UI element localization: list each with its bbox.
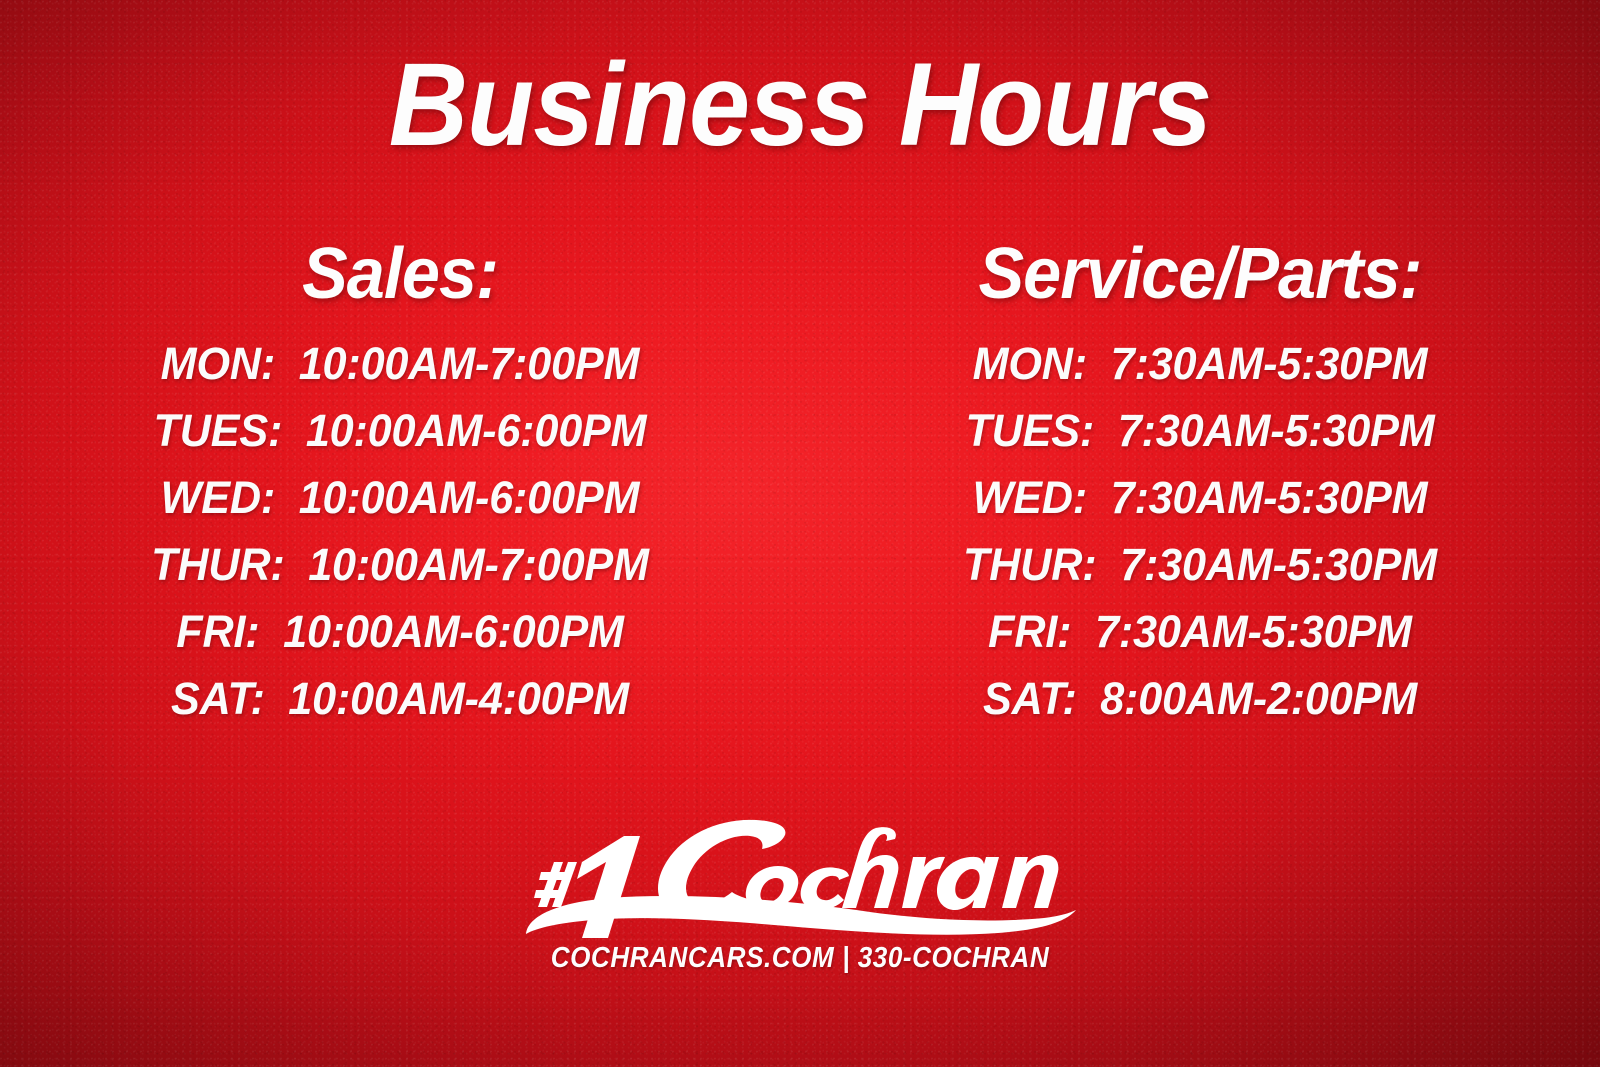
day-label: TUES:: [965, 405, 1105, 456]
brand-logo: COCHRANCARS.COM | 330-COCHRAN: [520, 806, 1080, 975]
day-label: MON:: [161, 338, 287, 389]
hours-row: SAT: 8:00AM-2:00PM: [816, 665, 1584, 732]
day-label: SAT:: [983, 673, 1088, 724]
hours-row: THUR: 7:30AM-5:30PM: [816, 531, 1584, 598]
hours-value: 7:30AM-5:30PM: [1118, 405, 1435, 456]
hours-value: 10:00AM-6:00PM: [283, 606, 624, 657]
sales-hours-column: Sales: MON: 10:00AM-7:00PM TUES: 10:00AM…: [0, 236, 800, 732]
hours-row: WED: 7:30AM-5:30PM: [816, 464, 1584, 531]
footer-contact-info: COCHRANCARS.COM | 330-COCHRAN: [548, 942, 1052, 975]
hours-value: 10:00AM-6:00PM: [306, 405, 647, 456]
hours-value: 7:30AM-5:30PM: [1120, 539, 1437, 590]
hours-row: THUR: 10:00AM-7:00PM: [16, 531, 784, 598]
cochran-logo-svg: [520, 806, 1080, 938]
hours-row: TUES: 10:00AM-6:00PM: [16, 397, 784, 464]
sales-column-heading: Sales:: [20, 236, 780, 312]
page-title: Business Hours: [56, 46, 1544, 164]
hours-columns: Sales: MON: 10:00AM-7:00PM TUES: 10:00AM…: [0, 236, 1600, 732]
hours-value: 10:00AM-6:00PM: [299, 472, 640, 523]
hours-row: FRI: 10:00AM-6:00PM: [16, 598, 784, 665]
day-label: FRI:: [988, 606, 1083, 657]
hours-value: 7:30AM-5:30PM: [1111, 472, 1428, 523]
hours-value: 7:30AM-5:30PM: [1111, 338, 1428, 389]
hours-row: MON: 7:30AM-5:30PM: [816, 330, 1584, 397]
day-label: FRI:: [176, 606, 271, 657]
sales-hours-list: MON: 10:00AM-7:00PM TUES: 10:00AM-6:00PM…: [0, 330, 800, 732]
hours-value: 10:00AM-7:00PM: [308, 539, 649, 590]
hours-value: 10:00AM-7:00PM: [299, 338, 640, 389]
service-parts-hours-column: Service/Parts: MON: 7:30AM-5:30PM TUES: …: [800, 236, 1600, 732]
day-label: WED:: [973, 472, 1099, 523]
day-label: THUR:: [963, 539, 1108, 590]
service-parts-hours-list: MON: 7:30AM-5:30PM TUES: 7:30AM-5:30PM W…: [800, 330, 1600, 732]
hours-value: 7:30AM-5:30PM: [1095, 606, 1412, 657]
hours-row: SAT: 10:00AM-4:00PM: [16, 665, 784, 732]
business-hours-poster: Business Hours Sales: MON: 10:00AM-7:00P…: [0, 0, 1600, 1067]
service-parts-column-heading: Service/Parts:: [820, 236, 1580, 312]
day-label: SAT:: [171, 673, 276, 724]
day-label: MON:: [973, 338, 1099, 389]
hours-row: FRI: 7:30AM-5:30PM: [816, 598, 1584, 665]
hours-row: MON: 10:00AM-7:00PM: [16, 330, 784, 397]
hours-row: TUES: 7:30AM-5:30PM: [816, 397, 1584, 464]
day-label: WED:: [161, 472, 287, 523]
hours-value: 10:00AM-4:00PM: [288, 673, 629, 724]
hours-value: 8:00AM-2:00PM: [1100, 673, 1417, 724]
day-label: THUR:: [151, 539, 296, 590]
hours-row: WED: 10:00AM-6:00PM: [16, 464, 784, 531]
day-label: TUES:: [154, 405, 294, 456]
